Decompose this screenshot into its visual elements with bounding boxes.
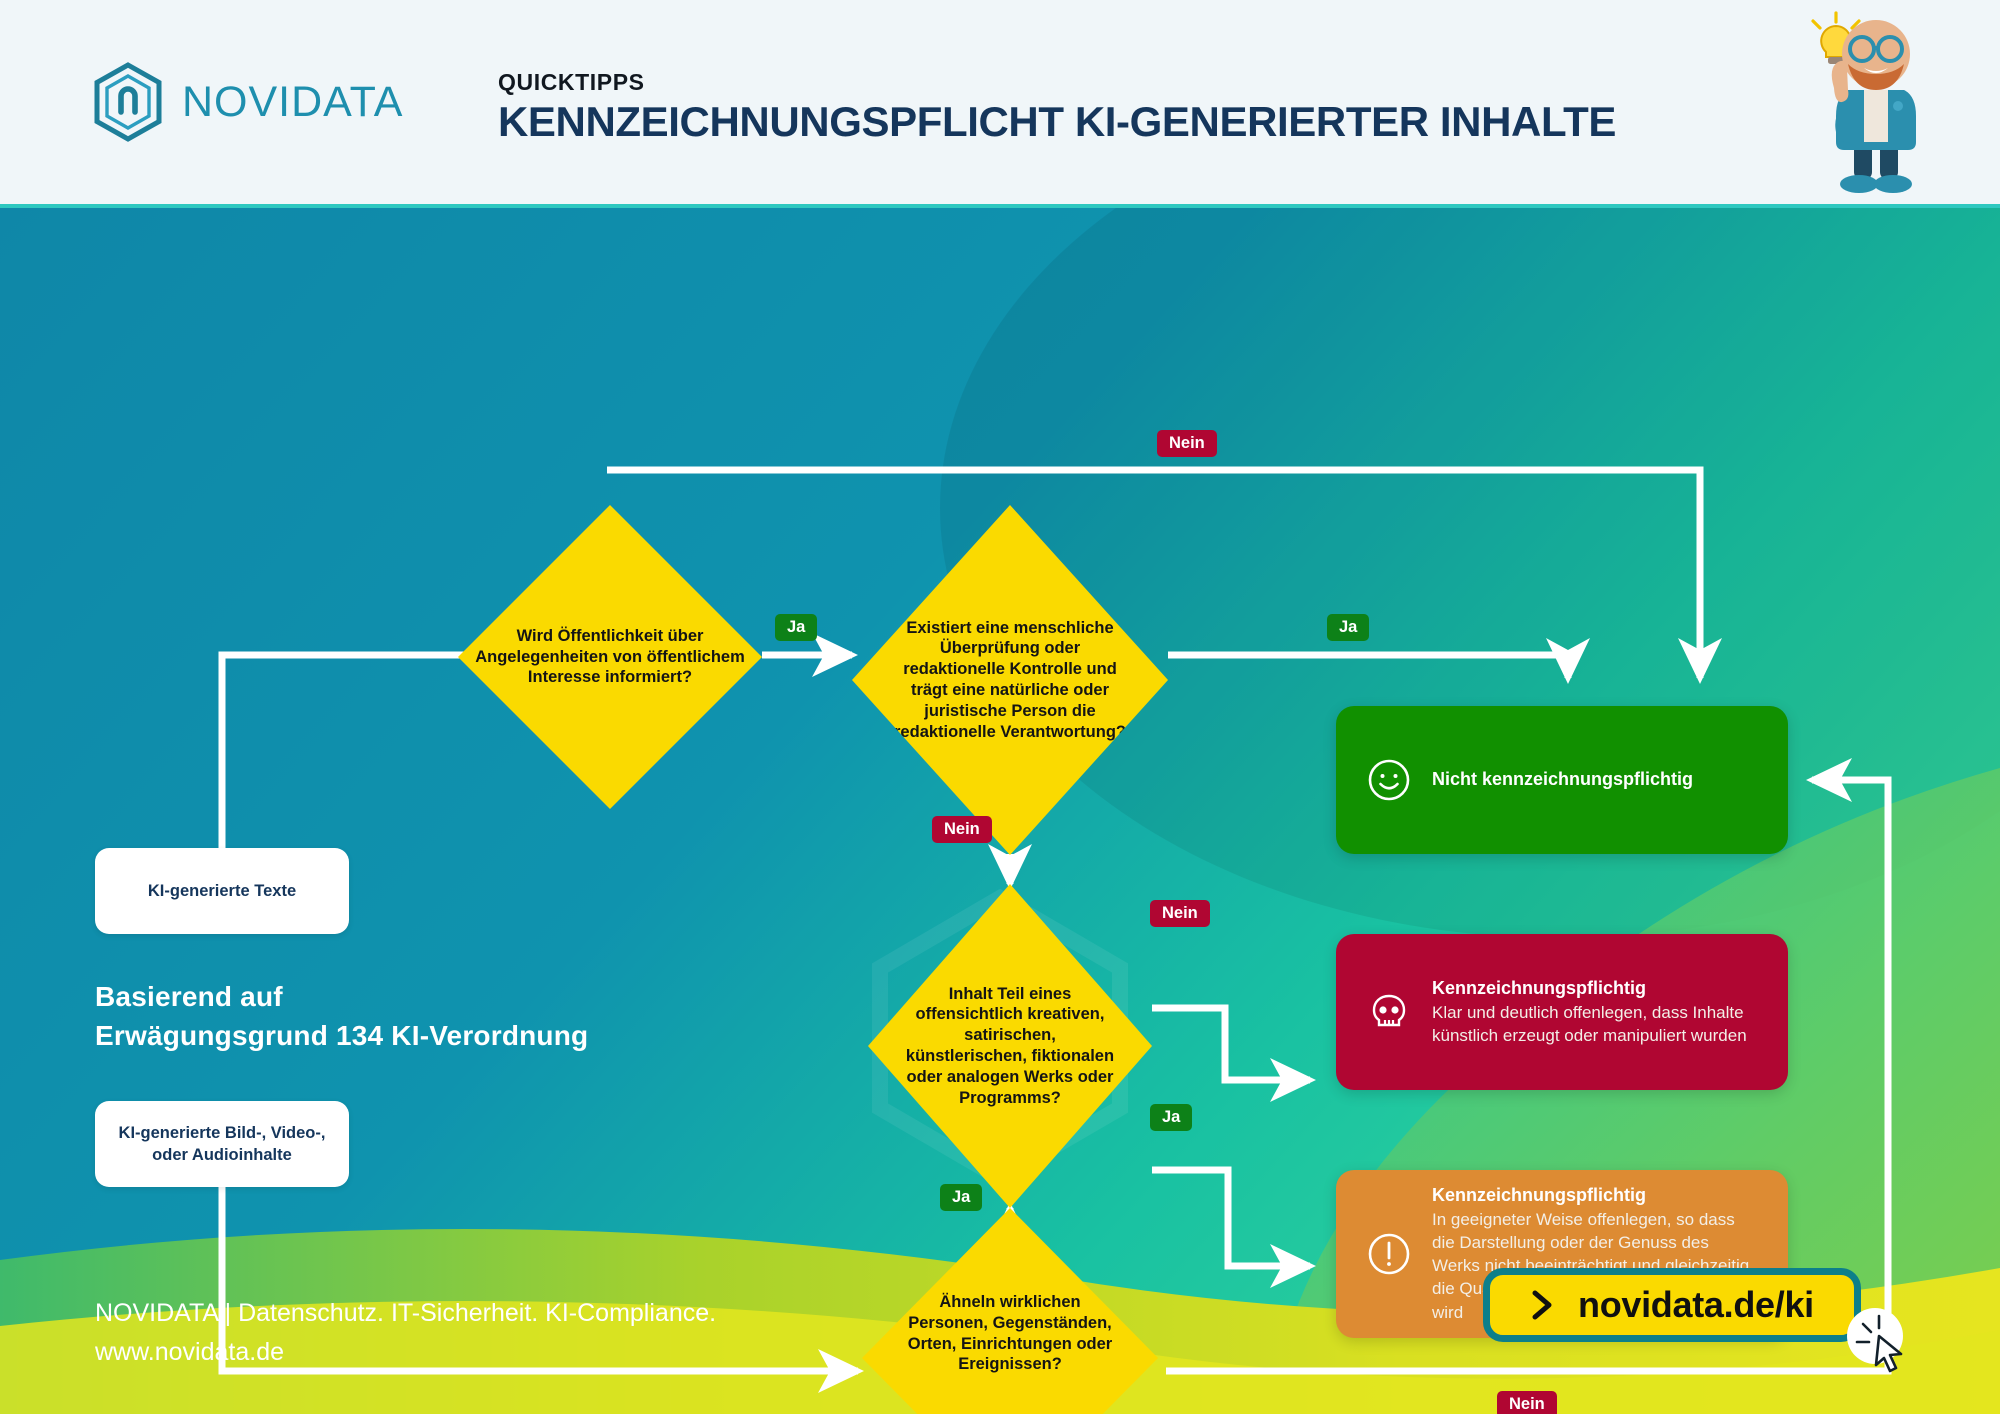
- outcome-card-none[interactable]: Nicht kennzeichnungspflichtig: [1336, 706, 1788, 854]
- click-cursor-icon: [1843, 1304, 1917, 1378]
- page-title: KENNZEICHNUNGSPFLICHT KI-GENERIERTER INH…: [498, 98, 1616, 146]
- edge-badge-d1-no: Nein: [1157, 430, 1217, 457]
- header-kicker: QUICKTIPPS: [498, 69, 645, 96]
- edge-badge-d4-no: Nein: [1497, 1391, 1557, 1414]
- smiley-icon: [1366, 757, 1412, 803]
- edge-badge-d3-no: Nein: [1150, 900, 1210, 927]
- novidata-logo: NOVIDATA: [92, 62, 403, 142]
- edge-badge-d3-yes: Ja: [1150, 1104, 1192, 1131]
- outcome-title-strict: Kennzeichnungspflichtig: [1432, 977, 1758, 1001]
- page-header: NOVIDATA QUICKTIPPS KENNZEICHNUNGSPFLICH…: [0, 0, 2000, 206]
- edge-badge-d4-yes: Ja: [940, 1184, 982, 1211]
- input-label-text: KI-generierte Texte: [148, 880, 296, 902]
- input-node-text[interactable]: KI-generierte Texte: [95, 848, 349, 934]
- footer-text: NOVIDATA | Datenschutz. IT-Sicherheit. K…: [95, 1294, 716, 1372]
- legal-basis-note: Basierend auf Erwägungsgrund 134 KI-Vero…: [95, 978, 588, 1055]
- novidata-logo-icon: [92, 62, 164, 142]
- cta-label: novidata.de/ki: [1578, 1284, 1814, 1326]
- footer-line-2: www.novidata.de: [95, 1333, 716, 1372]
- skull-icon: [1366, 989, 1412, 1035]
- chevron-right-icon: [1530, 1290, 1556, 1320]
- infographic-page: NOVIDATA QUICKTIPPS KENNZEICHNUNGSPFLICH…: [0, 0, 2000, 1414]
- outcome-title-soft: Kennzeichnungspflichtig: [1432, 1184, 1752, 1208]
- input-node-media[interactable]: KI-generierte Bild-, Video-, oder Audioi…: [95, 1101, 349, 1187]
- novidata-logo-text: NOVIDATA: [182, 78, 403, 127]
- edge-badge-d2-no: Nein: [932, 816, 992, 843]
- flowchart-canvas: Wird Öffentlichkeit über Angelegenheiten…: [0, 208, 2000, 1414]
- edge-badge-d2-yes: Ja: [1327, 614, 1369, 641]
- mascot-idea-character: [1776, 2, 1976, 202]
- mascot-body: [1832, 20, 1916, 193]
- outcome-card-strict[interactable]: Kennzeichnungspflichtig Klar und deutlic…: [1336, 934, 1788, 1090]
- exclamation-icon: [1366, 1231, 1412, 1277]
- cta-button[interactable]: novidata.de/ki: [1483, 1268, 1861, 1342]
- outcome-title-none: Nicht kennzeichnungspflichtig: [1432, 768, 1693, 792]
- input-label-media: KI-generierte Bild-, Video-, oder Audioi…: [119, 1122, 326, 1167]
- edge-badge-d1-yes: Ja: [775, 614, 817, 641]
- outcome-detail-strict: Klar und deutlich offenlegen, dass Inhal…: [1432, 1001, 1758, 1047]
- footer-line-1: NOVIDATA | Datenschutz. IT-Sicherheit. K…: [95, 1294, 716, 1333]
